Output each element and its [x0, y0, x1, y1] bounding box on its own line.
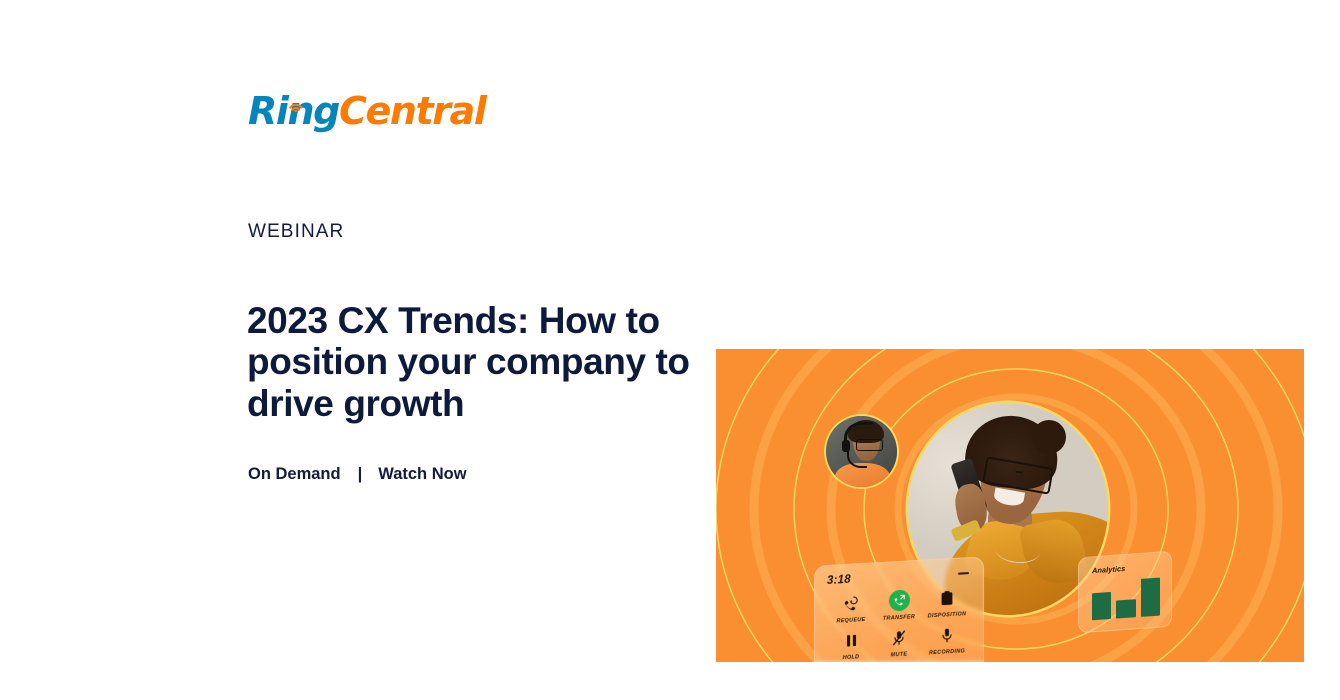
agent-avatar	[826, 416, 897, 487]
transfer-label: TRANSFER	[883, 614, 915, 622]
call-controls-grid: REQUEUE TRANSFER	[827, 586, 971, 662]
mic-muted-icon	[892, 627, 906, 649]
transfer-button[interactable]: TRANSFER	[875, 589, 923, 623]
hold-button[interactable]: HOLD	[827, 628, 875, 662]
requeue-button[interactable]: REQUEUE	[827, 591, 875, 625]
pause-icon	[845, 629, 858, 651]
cta-row: On Demand | Watch Now	[248, 465, 467, 484]
transfer-phone-icon	[889, 589, 910, 611]
requeue-label: REQUEUE	[836, 617, 865, 625]
recording-label: RECORDING	[929, 648, 965, 656]
content-type-eyebrow: WEBINAR	[248, 221, 344, 243]
minimize-icon[interactable]	[958, 572, 969, 575]
call-control-panel: 3:18 REQUEUE	[814, 556, 984, 662]
availability-label: On Demand	[248, 465, 341, 484]
wifi-signal-icon	[288, 80, 304, 93]
logo-text-central: Central	[339, 92, 486, 130]
microphone-icon	[940, 624, 954, 646]
call-panel-header: 3:18	[827, 567, 971, 587]
ringcentral-logo[interactable]: Ring Central	[248, 90, 485, 130]
requeue-phone-icon	[843, 592, 859, 614]
analytics-bar	[1116, 599, 1135, 619]
disposition-label: DISPOSITION	[928, 611, 967, 619]
mute-label: MUTE	[891, 652, 908, 659]
analytics-bar	[1141, 578, 1160, 617]
disposition-button[interactable]: DISPOSITION	[923, 586, 971, 620]
hero-image-panel: 3:18 REQUEUE	[716, 349, 1304, 662]
call-duration-timer: 3:18	[827, 574, 851, 587]
recording-button[interactable]: RECORDING	[923, 623, 971, 657]
analytics-bar	[1092, 592, 1111, 621]
hold-label: HOLD	[843, 654, 860, 661]
logo-text-ring: Ring	[248, 92, 339, 130]
transfer-icon-wrap	[889, 589, 910, 611]
portrait-hair-bun	[1032, 420, 1066, 454]
analytics-bar-chart	[1092, 572, 1160, 621]
cta-separator: |	[358, 465, 363, 484]
page-title: 2023 CX Trends: How to position your com…	[247, 300, 699, 425]
clipboard-icon	[940, 587, 954, 609]
mute-button[interactable]: MUTE	[875, 626, 923, 660]
analytics-card: Analytics	[1078, 551, 1172, 634]
watch-now-link[interactable]: Watch Now	[378, 465, 466, 484]
